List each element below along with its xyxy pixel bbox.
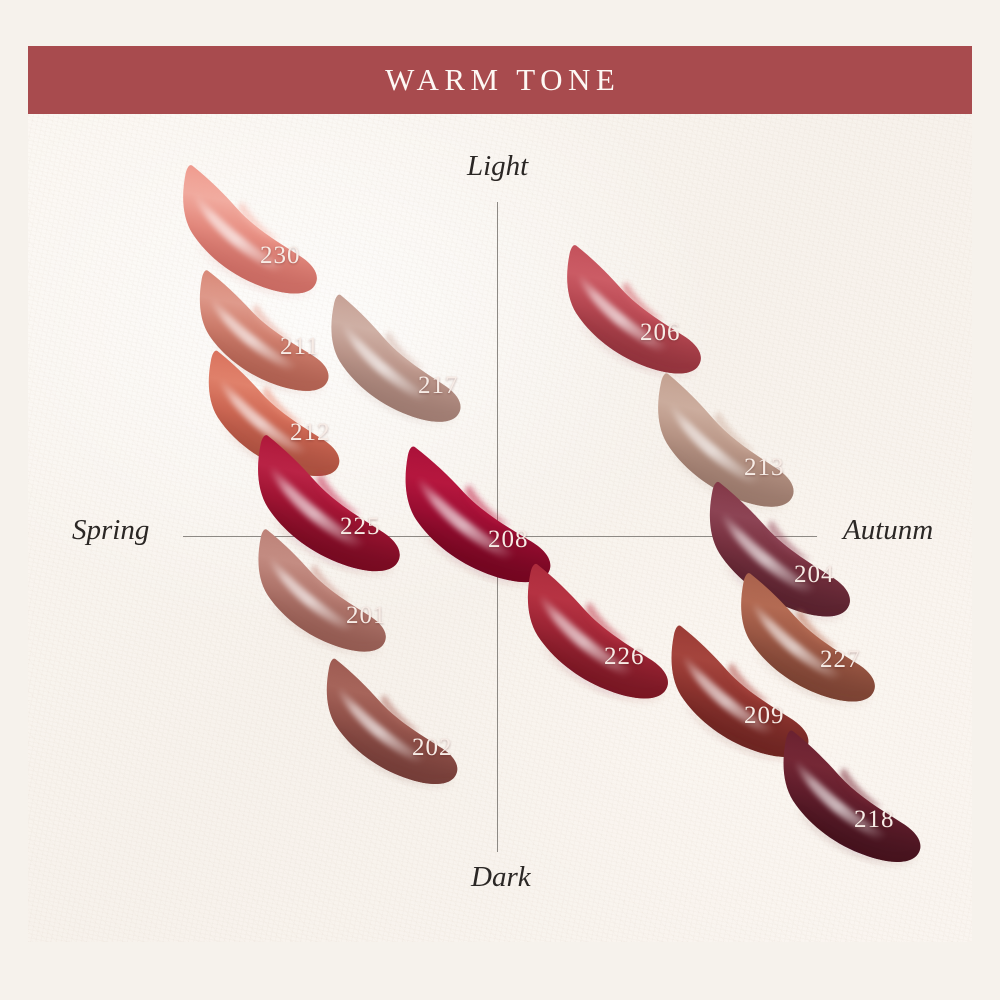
shade-chart-page: WARM TONE Light Dark Spring Autunm 23021… — [0, 0, 1000, 1000]
lipstick-swatch — [539, 234, 732, 389]
header-bar: WARM TONE — [28, 46, 972, 114]
shade-map-panel: Light Dark Spring Autunm 230211217212225… — [28, 114, 972, 942]
axis-label-dark: Dark — [471, 861, 531, 894]
axis-label-spring: Spring — [72, 514, 149, 547]
lipstick-swatch — [300, 649, 488, 799]
axis-label-light: Light — [467, 150, 528, 183]
page-title: WARM TONE — [380, 62, 621, 98]
lipstick-swatch — [755, 720, 953, 878]
